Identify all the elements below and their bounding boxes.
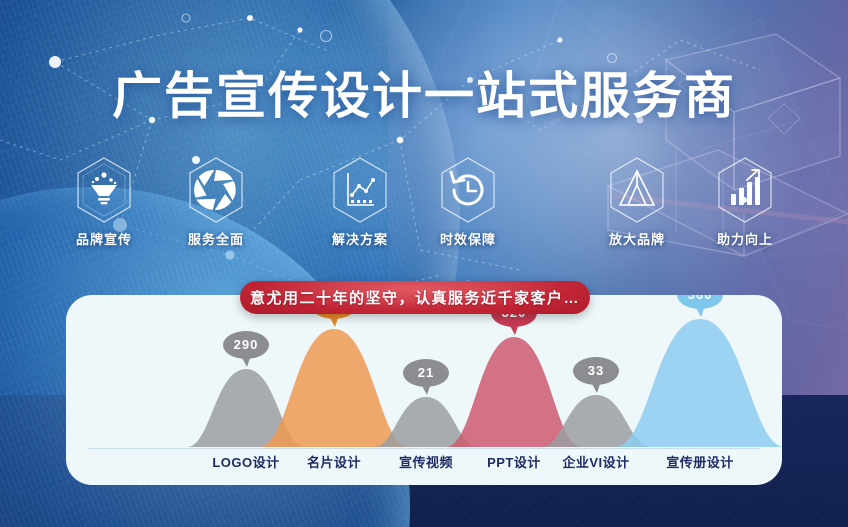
feature-item-brand-promotion[interactable]: 品牌宣传 xyxy=(56,155,152,248)
chart-value-bubble: 33 xyxy=(573,357,619,394)
bar-chart-arrow-up-icon xyxy=(714,155,776,225)
chart-card: LOGO设计名片设计宣传视频PPT设计企业VI设计宣传册设计 290350213… xyxy=(66,295,782,485)
feature-item-timeliness[interactable]: 时效保障 xyxy=(420,155,516,248)
megaphone-sparkle-icon xyxy=(73,155,135,225)
feature-item-boost-growth[interactable]: 助力向上 xyxy=(697,155,793,248)
chart-category-labels: LOGO设计名片设计宣传视频PPT设计企业VI设计宣传册设计 xyxy=(66,450,782,480)
clock-history-icon xyxy=(437,155,499,225)
chart-category-label: 企业VI设计 xyxy=(536,452,656,471)
feature-icon-row: 品牌宣传 服务全面 xyxy=(0,155,848,247)
chart-value-bubble: 21 xyxy=(403,359,449,396)
chart-category-label: 宣传册设计 xyxy=(640,452,760,471)
chart-value-bubble: 290 xyxy=(223,331,269,368)
page-title: 广告宣传设计一站式服务商 xyxy=(0,56,848,128)
feature-label: 品牌宣传 xyxy=(56,229,152,248)
poster-canvas: 广告宣传设计一站式服务商 xyxy=(0,0,848,527)
chart-value-text: 290 xyxy=(223,337,269,352)
feature-label: 助力向上 xyxy=(697,229,793,248)
feature-label: 时效保障 xyxy=(420,229,516,248)
bell-curve-2 xyxy=(259,329,409,447)
chart-value-text: 21 xyxy=(403,365,449,380)
feature-label: 解决方案 xyxy=(312,229,408,248)
chart-value-bubble: 560 xyxy=(677,295,723,318)
aperture-icon xyxy=(185,155,247,225)
chart-value-text: 560 xyxy=(677,295,723,302)
ribbon-banner: 意尤用二十年的坚守，认真服务近千家客户… xyxy=(240,281,590,314)
feature-label: 服务全面 xyxy=(168,229,264,248)
ribbon-text: 意尤用二十年的坚守，认真服务近千家客户… xyxy=(250,287,580,308)
pyramid-icon xyxy=(606,155,668,225)
chart-network-icon xyxy=(329,155,391,225)
feature-item-solution[interactable]: 解决方案 xyxy=(312,155,408,248)
chart-baseline xyxy=(88,448,760,449)
feature-item-full-service[interactable]: 服务全面 xyxy=(168,155,264,248)
feature-label: 放大品牌 xyxy=(589,229,685,248)
chart-value-text: 33 xyxy=(573,363,619,378)
bell-curve-6 xyxy=(615,319,782,447)
feature-item-amplify-brand[interactable]: 放大品牌 xyxy=(589,155,685,248)
